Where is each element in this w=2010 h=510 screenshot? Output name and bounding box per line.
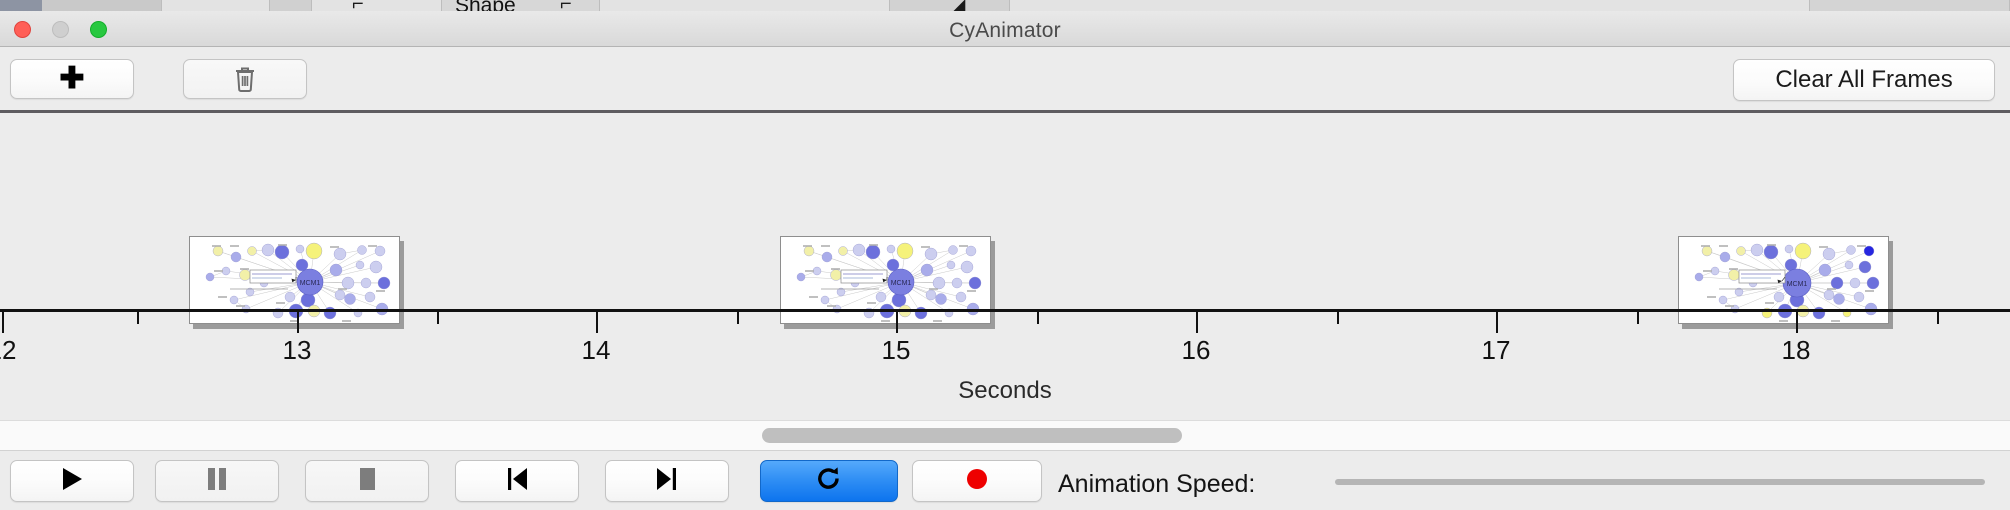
clear-all-frames-label: Clear All Frames bbox=[1775, 66, 1952, 94]
play-icon bbox=[59, 465, 85, 498]
timeline-tick-minor bbox=[1337, 312, 1339, 324]
timeline-tick-label: 17 bbox=[1482, 335, 1511, 366]
trash-icon bbox=[234, 66, 256, 92]
skip-start-icon bbox=[504, 465, 530, 498]
svg-text:MCM1: MCM1 bbox=[300, 280, 321, 287]
timeline-tick-major bbox=[1196, 312, 1198, 333]
add-frame-button[interactable]: ✚ bbox=[10, 59, 134, 99]
timeline-tick-major bbox=[2, 312, 4, 333]
cyanimator-window: ⌐ ⌐ ◢ Shape CyAnimator ✚ Clear All Frame… bbox=[0, 0, 2010, 510]
timeline-tick-label: 16 bbox=[1182, 335, 1211, 366]
timeline-frame[interactable]: MCM1 bbox=[1678, 236, 1893, 328]
timeline-tick-major bbox=[297, 312, 299, 333]
loop-button[interactable] bbox=[760, 460, 898, 502]
scrollbar-thumb[interactable] bbox=[762, 428, 1182, 443]
pause-icon bbox=[205, 465, 229, 498]
timeline-tick-label: 14 bbox=[582, 335, 611, 366]
svg-text:MCM1: MCM1 bbox=[891, 280, 912, 287]
axis-title: Seconds bbox=[0, 377, 2010, 405]
timeline-tick-minor bbox=[137, 312, 139, 324]
timeline-frame[interactable]: MCM1 bbox=[780, 236, 995, 328]
timeline-tick-minor bbox=[1637, 312, 1639, 324]
skip-end-icon bbox=[654, 465, 680, 498]
background-window-strip: ⌐ ⌐ ◢ Shape bbox=[0, 0, 2010, 11]
animation-speed-label: Animation Speed: bbox=[1058, 470, 1255, 499]
window-title: CyAnimator bbox=[0, 19, 2010, 43]
stop-icon bbox=[355, 465, 379, 498]
play-button[interactable] bbox=[10, 460, 134, 502]
timeline-tick-major bbox=[1796, 312, 1798, 333]
timeline-scrollbar[interactable] bbox=[0, 420, 2010, 450]
timeline-tick-label: 13 bbox=[283, 335, 312, 366]
toolbar: ✚ Clear All Frames bbox=[0, 47, 2010, 110]
skip-end-button[interactable] bbox=[605, 460, 729, 502]
skip-start-button[interactable] bbox=[455, 460, 579, 502]
timeline-tick-major bbox=[596, 312, 598, 333]
title-bar: CyAnimator bbox=[0, 11, 2010, 47]
playback-bar: Animation Speed: bbox=[0, 450, 2010, 510]
timeline-tick-minor bbox=[1037, 312, 1039, 324]
record-icon bbox=[963, 465, 991, 498]
timeline-tick-minor bbox=[1937, 312, 1939, 324]
timeline-tick-label: 15 bbox=[882, 335, 911, 366]
svg-text:MCM1: MCM1 bbox=[1787, 281, 1808, 288]
timeline-tick-label: 12 bbox=[0, 335, 16, 366]
loop-icon bbox=[815, 465, 843, 498]
pause-button[interactable] bbox=[155, 460, 279, 502]
plus-icon: ✚ bbox=[59, 64, 84, 94]
timeline-tick-major bbox=[896, 312, 898, 333]
record-button[interactable] bbox=[912, 460, 1042, 502]
timeline-tick-minor bbox=[437, 312, 439, 324]
clear-all-frames-button[interactable]: Clear All Frames bbox=[1733, 59, 1995, 101]
timeline-tick-minor bbox=[737, 312, 739, 324]
stop-button[interactable] bbox=[305, 460, 429, 502]
timeline-tick-label: 18 bbox=[1782, 335, 1811, 366]
timeline-panel[interactable]: MCM1MCM1MCM1 12131415161718 Seconds bbox=[0, 113, 2010, 420]
background-menu-text: Shape bbox=[455, 0, 516, 11]
timeline-axis bbox=[0, 309, 2010, 312]
delete-frame-button[interactable] bbox=[183, 59, 307, 99]
timeline-tick-major bbox=[1496, 312, 1498, 333]
animation-speed-slider[interactable] bbox=[1335, 479, 1985, 485]
